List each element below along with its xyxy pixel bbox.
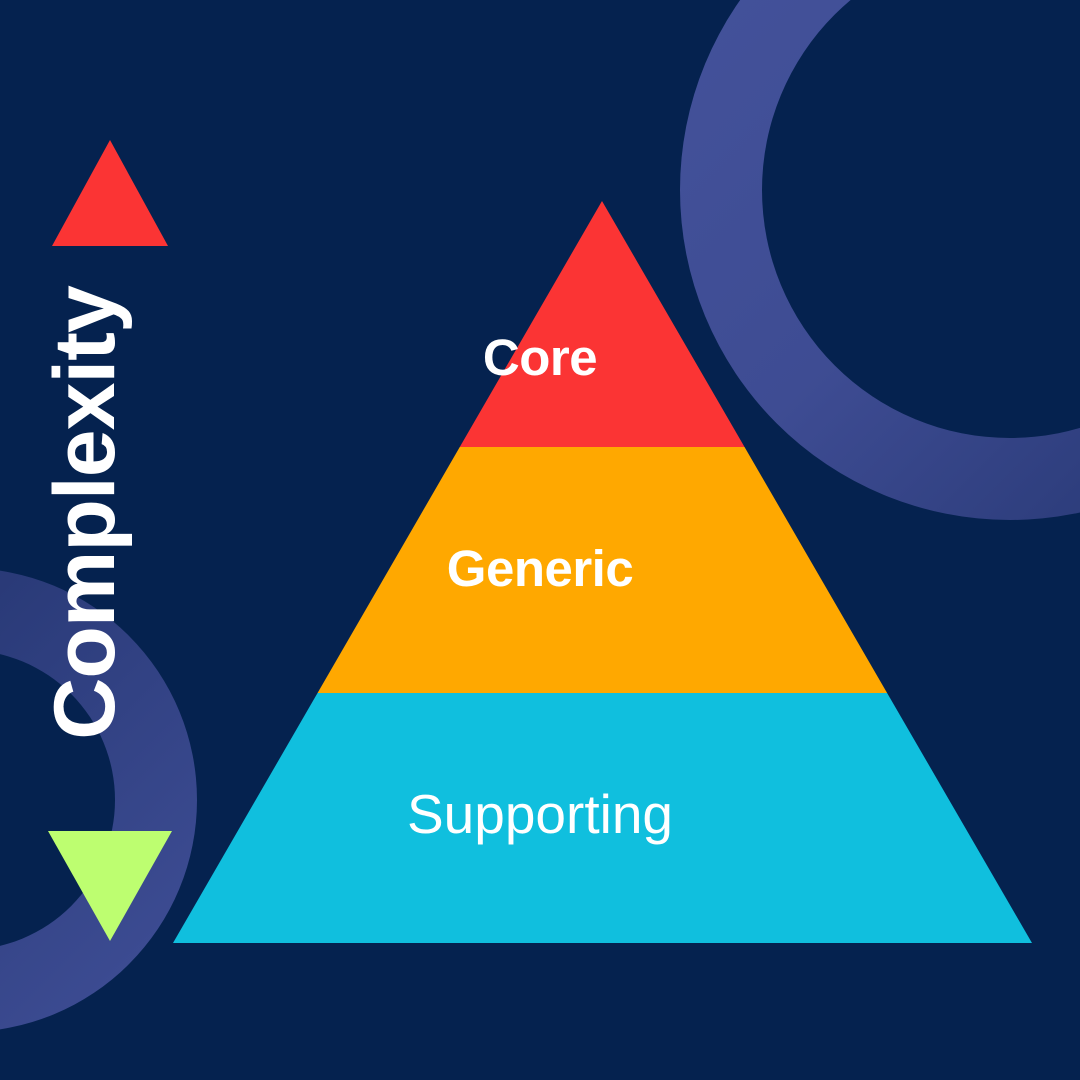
diagram-canvas: Core Generic Supporting Complexity bbox=[0, 0, 1080, 1080]
triangle-down-icon bbox=[48, 831, 172, 941]
complexity-axis: Complexity bbox=[0, 0, 230, 1080]
labels-layer: Core Generic Supporting Complexity bbox=[0, 0, 1080, 1080]
complexity-axis-label: Complexity bbox=[42, 163, 128, 863]
